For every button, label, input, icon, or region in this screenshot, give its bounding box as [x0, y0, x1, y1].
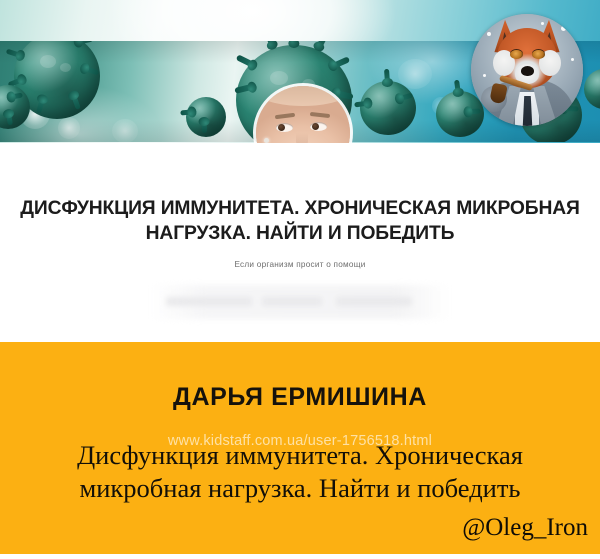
presenter-name: ДАРЬЯ ЕРМИШИНА	[0, 383, 600, 412]
virus-spike	[36, 99, 45, 114]
virus-spike	[6, 114, 13, 126]
promo-card: ДИСФУНКЦИЯ ИММУНИТЕТА. ХРОНИЧЕСКАЯ МИКРО…	[0, 0, 600, 559]
bokeh-light	[20, 99, 50, 129]
virus-particle	[0, 85, 30, 129]
fox-nose	[521, 66, 534, 76]
faded-text-placeholder	[166, 297, 252, 306]
virus-spike	[84, 66, 99, 75]
course-info-section: ДАРЬЯ ЕРМИШИНА Дисфункция иммунитета. Хр…	[0, 342, 600, 554]
virus-spike	[454, 80, 461, 93]
portrait-iris-right	[312, 123, 319, 130]
faded-text-placeholder	[336, 297, 412, 306]
virus-spike	[384, 69, 390, 82]
presenter-portrait-photo	[256, 86, 350, 143]
virus-body	[186, 97, 226, 137]
portrait-eye-left	[276, 123, 293, 132]
page-title: ДИСФУНКЦИЯ ИММУНИТЕТА. ХРОНИЧЕСКАЯ МИКРО…	[10, 196, 590, 246]
virus-spike	[78, 41, 93, 44]
virus-texture-speck	[270, 71, 288, 85]
virus-spike	[262, 41, 275, 46]
virus-particle	[14, 41, 100, 119]
fox-eye-left	[510, 50, 523, 59]
snowflake	[561, 26, 566, 31]
snowflake	[483, 74, 486, 77]
virus-spike	[11, 93, 23, 100]
banner-image	[0, 0, 600, 143]
virus-body	[360, 81, 416, 135]
portrait-iris-left	[278, 124, 285, 131]
virus-body	[14, 41, 100, 119]
virus-spike	[202, 122, 207, 133]
virus-spike	[332, 56, 350, 68]
bokeh-light	[58, 117, 80, 139]
bokeh-light	[398, 59, 432, 89]
virus-spike	[8, 77, 23, 87]
virus-spike	[399, 93, 413, 101]
snowflake	[487, 32, 491, 36]
bokeh-light	[432, 97, 450, 115]
bottom-edge-strip	[0, 554, 600, 559]
faded-cropped-content	[150, 285, 450, 319]
virus-particle	[186, 97, 226, 137]
snowflake	[541, 22, 544, 25]
virus-body	[0, 85, 30, 129]
virus-spike	[234, 84, 252, 94]
virus-particle	[584, 69, 600, 109]
virus-body	[584, 69, 600, 109]
virus-spike	[6, 49, 21, 58]
bokeh-light	[112, 119, 138, 142]
course-title: Дисфункция иммунитета. Хроническая микро…	[0, 439, 600, 505]
page-subtitle: Если организм просит о помощи	[0, 260, 600, 269]
title-section: ДИСФУНКЦИЯ ИММУНИТЕТА. ХРОНИЧЕСКАЯ МИКРО…	[0, 143, 600, 342]
virus-spike	[180, 110, 191, 116]
seller-handle: @Oleg_Iron	[462, 514, 588, 542]
virus-spike	[71, 95, 80, 110]
faded-text-placeholder	[262, 297, 322, 306]
portrait-nose	[296, 133, 308, 143]
virus-spike	[354, 101, 368, 108]
virus-spike	[291, 41, 298, 43]
virus-spike	[317, 41, 330, 48]
fox-avatar-icon[interactable]	[471, 14, 583, 126]
virus-texture-speck	[60, 63, 71, 72]
snowflake	[571, 58, 574, 61]
fox-eye-right	[532, 50, 545, 59]
virus-spike	[236, 54, 254, 67]
virus-texture-speck	[40, 55, 56, 68]
portrait-eye-right	[310, 122, 327, 131]
virus-particle	[360, 81, 416, 135]
